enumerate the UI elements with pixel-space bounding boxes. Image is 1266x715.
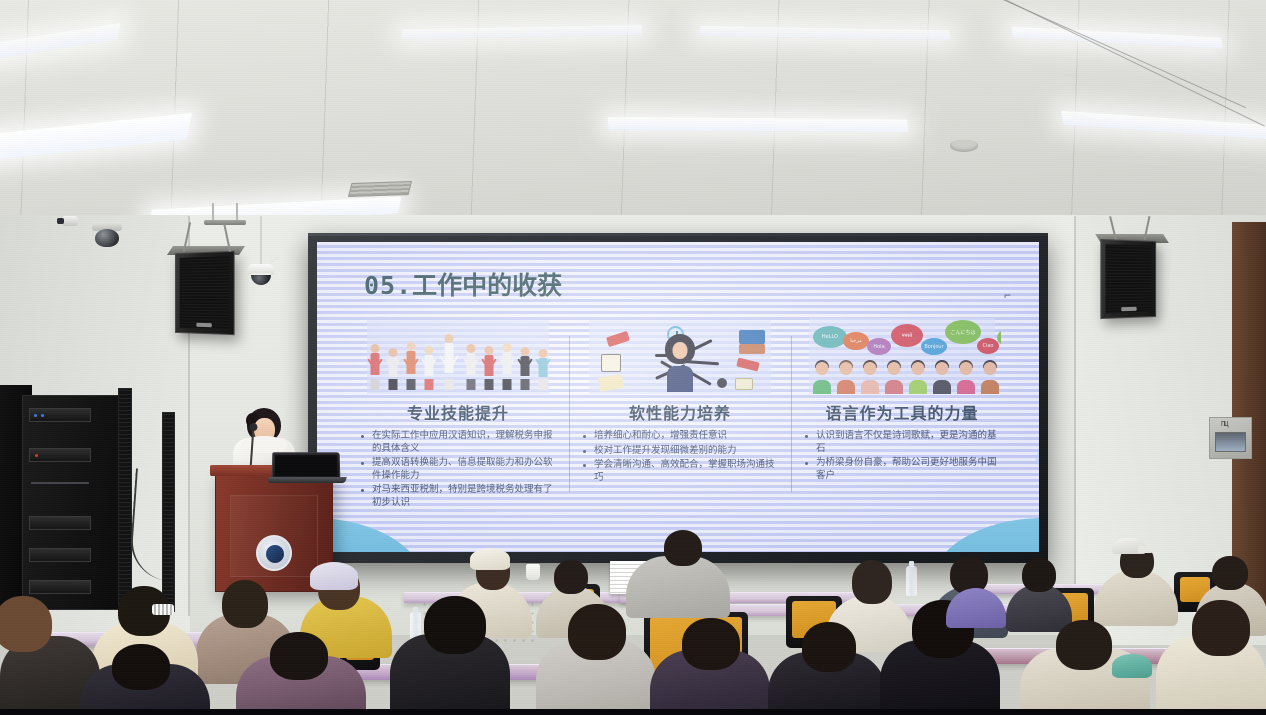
mouse-cursor-icon: ⌐	[1004, 289, 1013, 301]
wall-control-panel[interactable]: ПЦ	[1209, 417, 1252, 459]
podium-laptop[interactable]	[272, 452, 341, 479]
audience-head	[554, 560, 588, 594]
speech-bubble-text: مرحبا	[850, 338, 862, 344]
wall-speaker-right	[1100, 239, 1156, 319]
slide-column-2: 软性能力培养 培养细心和耐心，增强责任意识 校对工作提升发现细微差别的能力 学会…	[569, 314, 791, 518]
audience-head	[0, 596, 52, 652]
bullet-item: 对马来西亚税制，特别是跨境税务处理有了初步认识	[359, 484, 557, 509]
audience-head	[1192, 600, 1250, 656]
woman-torso	[667, 366, 693, 392]
speech-bubble: こんにちは	[945, 320, 981, 344]
audience-head	[802, 622, 856, 672]
hair-clip	[152, 604, 174, 615]
audience-head	[270, 632, 328, 680]
ceiling	[0, 0, 1266, 235]
audience-head	[1212, 556, 1248, 590]
bullet-item: 为桥梁身份自豪，帮助公司更好地服务中国客户	[803, 457, 1001, 482]
audience-head	[112, 644, 170, 690]
mount-rod	[236, 203, 238, 221]
slide-title-text: 工作中的收获	[412, 271, 562, 300]
rack-device[interactable]	[29, 548, 91, 562]
rack-device[interactable]	[29, 580, 91, 594]
audience-head	[664, 530, 702, 566]
control-panel-label: ПЦ	[1221, 421, 1227, 429]
speech-bubble-text: Bonjour	[924, 344, 943, 350]
multilingual-people-illustration: HeLLO مرحبا Hola नमस्ते Bonjour こんにちは Ci…	[803, 316, 1001, 396]
slide-column-1: 专业技能提升 在实际工作中应用汉语知识，理解税务申报的具体含义 提高双语转换能力…	[347, 314, 569, 518]
bullet-item: 提高双语转换能力、信息提取能力和办公软件操作能力	[359, 457, 557, 482]
column-3-bullets: 认识到语言不仅是诗词歌赋，更是沟通的基石 为桥梁身份自豪，帮助公司更好地服务中国…	[803, 430, 1001, 482]
wall-camera-icon	[62, 216, 78, 226]
column-1-bullets: 在实际工作中应用汉语知识，理解税务申报的具体含义 提高双语转换能力、信息提取能力…	[359, 430, 557, 509]
audience-head	[1056, 620, 1112, 670]
wall-corner-seam	[1074, 216, 1076, 636]
woman-face	[673, 342, 688, 359]
box-icon	[739, 344, 765, 354]
rack-side-speaker	[118, 388, 132, 616]
laptop-screen	[275, 455, 337, 476]
speech-bubble-text: Hola	[873, 344, 884, 350]
clipboard-icon	[601, 354, 621, 372]
speech-bubble: مرحبا	[843, 332, 869, 350]
audience-head	[1022, 558, 1056, 592]
audience-head	[424, 596, 486, 654]
knit-hat	[470, 548, 510, 570]
column-1-heading: 专业技能提升	[359, 400, 557, 424]
knit-hat	[1112, 654, 1152, 678]
audience-head	[222, 580, 268, 628]
coffee-cup-icon	[717, 378, 727, 388]
rack-cables	[31, 482, 89, 504]
classroom-scene: ПЦ 05.工作中的收获	[0, 0, 1266, 715]
knit-hat	[310, 562, 358, 590]
baseball-cap	[1112, 538, 1146, 554]
phone-icon	[736, 357, 760, 371]
rack-device[interactable]	[29, 516, 91, 530]
speech-bubble-text: नमस्ते	[902, 333, 913, 339]
laptop-base	[267, 477, 346, 483]
audience-head	[568, 604, 626, 660]
ceiling-light-panel	[607, 117, 908, 133]
ceiling-dome-camera-icon	[92, 222, 122, 246]
podium-emblem	[256, 535, 292, 571]
presenter-hood	[241, 436, 287, 453]
speech-bubble-text: HeLLO	[822, 334, 838, 340]
camera-lens	[251, 273, 271, 285]
column-2-heading: 软性能力培养	[581, 400, 779, 424]
bullet-item: 学会清晰沟通、高效配合，掌握职场沟通技巧	[581, 459, 779, 484]
audience-head	[852, 560, 892, 604]
speech-bubble: Ciao	[977, 338, 999, 354]
cheering-team-illustration	[359, 316, 557, 396]
slide-canvas: 05.工作中的收获	[317, 242, 1039, 552]
av-equipment-rack[interactable]	[22, 395, 120, 610]
bullet-item: 认识到语言不仅是诗词歌赋，更是沟通的基石	[803, 430, 1001, 455]
speaker-badge	[1121, 307, 1136, 311]
column-2-bullets: 培养细心和耐心，增强责任意识 校对工作提升发现细微差别的能力 学会清晰沟通、高效…	[581, 430, 779, 484]
control-panel-display	[1215, 432, 1246, 452]
slide-column-3: HeLLO مرحبا Hola नमस्ते Bonjour こんにちは Ci…	[791, 314, 1013, 518]
ceiling-air-vent	[348, 181, 412, 197]
held-item	[735, 378, 753, 390]
document-icon	[598, 374, 624, 392]
held-item	[606, 331, 630, 347]
speech-bubble-text: こんにちは	[950, 329, 975, 336]
mount-rod	[212, 203, 214, 221]
water-bottle	[906, 566, 917, 596]
held-item	[739, 330, 765, 344]
slide-columns: 专业技能提升 在实际工作中应用汉语知识，理解税务申报的具体含义 提高双语转换能力…	[347, 314, 1013, 518]
bullet-item: 培养细心和耐心，增强责任意识	[581, 430, 779, 443]
bullet-item: 在实际工作中应用汉语知识，理解税务申报的具体含义	[359, 430, 557, 455]
slide-title: 05.工作中的收获	[364, 266, 562, 302]
ptz-dome-camera	[246, 264, 276, 284]
column-3-heading: 语言作为工具的力量	[803, 400, 1001, 424]
multitasking-woman-illustration	[581, 316, 779, 396]
speaker-badge	[196, 323, 211, 327]
paper-cup	[526, 564, 540, 580]
camera-pole	[260, 216, 262, 264]
slide-title-number: 05.	[364, 271, 412, 300]
frame-bottom-edge	[0, 709, 1266, 715]
speech-bubble: नमस्ते	[891, 324, 923, 347]
speech-bubble: Bonjour	[921, 338, 947, 355]
speech-bubble: HeLLO	[813, 326, 847, 348]
wall-speaker-left	[175, 251, 235, 335]
bullet-item: 校对工作提升发现细微差别的能力	[581, 445, 779, 458]
speaker-grille	[1105, 244, 1151, 314]
rack-device[interactable]	[29, 408, 91, 422]
smoke-detector	[950, 140, 978, 152]
dome-camera-lens	[95, 229, 119, 247]
speech-bubble-text: Ciao	[982, 343, 993, 349]
speech-bubble: Hola	[867, 338, 891, 355]
speaker-grille	[180, 256, 230, 330]
rack-device[interactable]	[29, 448, 91, 462]
presentation-display[interactable]: 05.工作中的收获	[308, 233, 1048, 563]
audience-head	[682, 618, 740, 670]
